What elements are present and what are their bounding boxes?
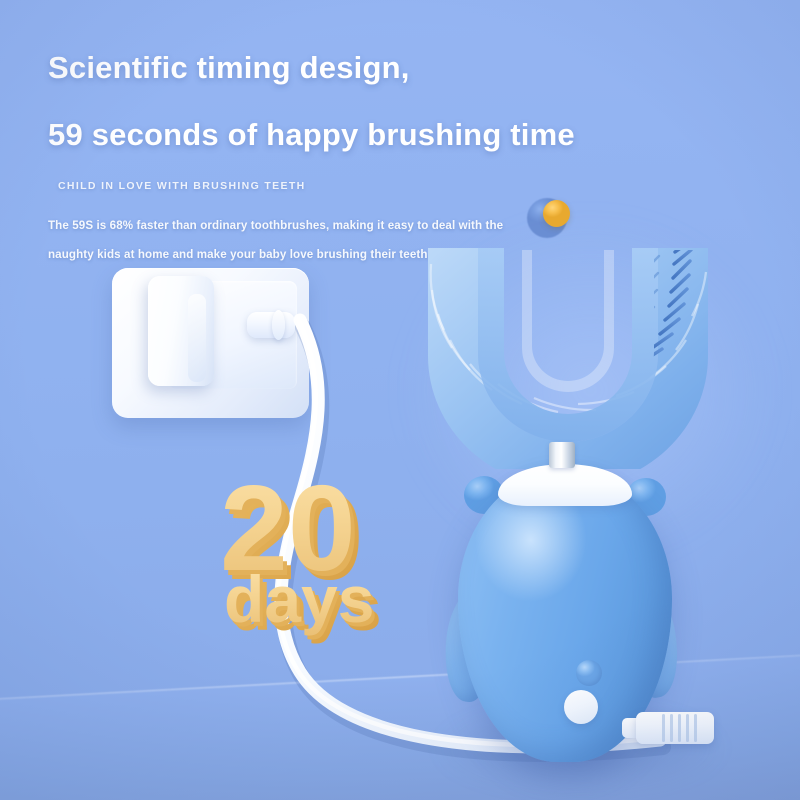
scene-vignette	[0, 0, 800, 800]
product-banner-scene: Scientific timing design, 59 seconds of …	[0, 0, 800, 800]
